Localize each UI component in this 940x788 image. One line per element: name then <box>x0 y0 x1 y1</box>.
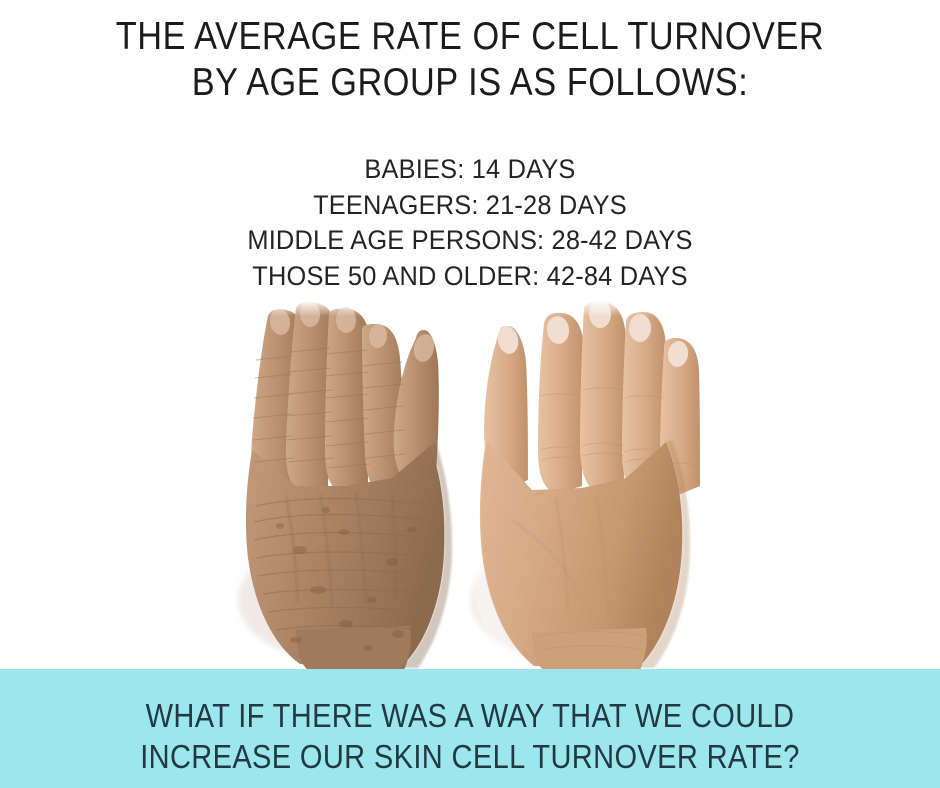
banner-line-2: INCREASE OUR SKIN CELL TURNOVER RATE? <box>56 736 883 777</box>
elderly-hand <box>238 300 452 670</box>
infographic-poster: THE AVERAGE RATE OF CELL TURNOVER BY AGE… <box>0 0 940 788</box>
list-item: BABIES: 14 DAYS <box>28 152 912 188</box>
headline-line-1: THE AVERAGE RATE OF CELL TURNOVER <box>56 14 883 60</box>
banner-line-1: WHAT IF THERE WAS A WAY THAT WE COULD <box>56 695 883 736</box>
turnover-rate-list: BABIES: 14 DAYS TEENAGERS: 21-28 DAYS MI… <box>28 152 912 294</box>
hands-illustration <box>0 300 940 670</box>
call-to-action-banner: WHAT IF THERE WAS A WAY THAT WE COULD IN… <box>0 669 940 788</box>
hands-photograph <box>0 300 940 670</box>
list-item: TEENAGERS: 21-28 DAYS <box>28 188 912 224</box>
headline-line-2: BY AGE GROUP IS AS FOLLOWS: <box>56 60 883 106</box>
list-item: MIDDLE AGE PERSONS: 28-42 DAYS <box>28 223 912 259</box>
list-item: THOSE 50 AND OLDER: 42-84 DAYS <box>28 259 912 295</box>
page-title: THE AVERAGE RATE OF CELL TURNOVER BY AGE… <box>56 14 883 106</box>
banner-question: WHAT IF THERE WAS A WAY THAT WE COULD IN… <box>56 695 883 777</box>
